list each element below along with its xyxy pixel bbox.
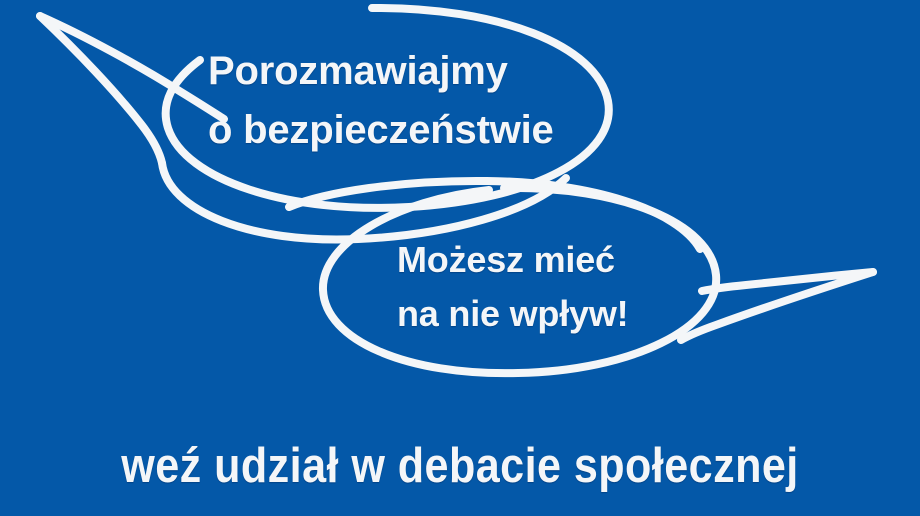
bubble-one-lower-left-arc: [162, 163, 566, 240]
bubble-one-line-1: Porozmawiajmy: [208, 42, 554, 101]
bubble-two-line-1: Możesz mieć: [397, 233, 628, 287]
bubble-one-message: Porozmawiajmy o bezpieczeństwie: [208, 42, 554, 160]
bubble-two-message: Możesz mieć na nie wpływ!: [397, 233, 628, 341]
bubble-two-line-2: na nie wpływ!: [397, 287, 628, 341]
poster-canvas: Porozmawiajmy o bezpieczeństwie Możesz m…: [0, 0, 920, 516]
bubble-one-tail-lower: [40, 16, 162, 163]
bubble-two-tail-upper: [702, 272, 873, 291]
bubble-one-tail-upper: [40, 16, 224, 119]
bubble-one-line-2: o bezpieczeństwie: [208, 101, 554, 160]
bubble-two-tail-lower: [681, 272, 873, 340]
call-to-action-text: weź udział w debacie społecznej: [55, 436, 865, 496]
